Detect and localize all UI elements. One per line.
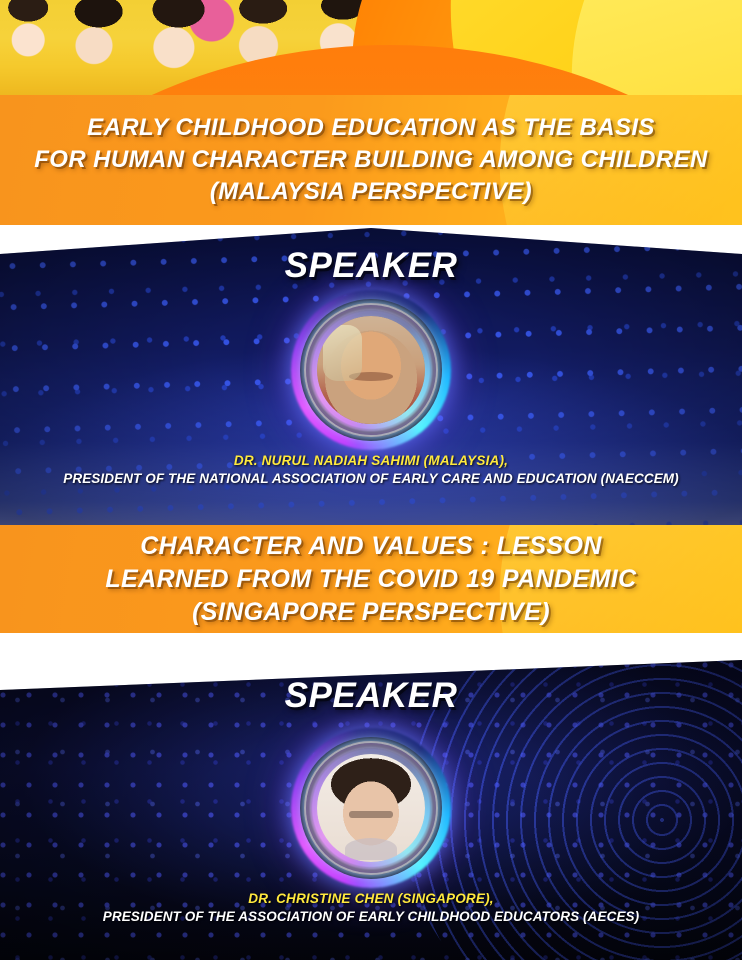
- avatar: [317, 754, 425, 862]
- children-photo-banner: [0, 0, 742, 95]
- session-1-title-line-1: EARLY CHILDHOOD EDUCATION AS THE BASIS: [87, 112, 655, 144]
- session-2-title-banner: CHARACTER AND VALUES : LESSON LEARNED FR…: [0, 525, 742, 633]
- session-2-speaker-caption: DR. CHRISTINE CHEN (SINGAPORE), PRESIDEN…: [0, 890, 742, 926]
- session-1-speaker-name: DR. NURUL NADIAH SAHIMI (MALAYSIA),: [0, 452, 742, 470]
- session-1-title-banner: EARLY CHILDHOOD EDUCATION AS THE BASIS F…: [0, 95, 742, 225]
- speaker-2-face-image: [317, 754, 425, 862]
- session-2-speaker-name: DR. CHRISTINE CHEN (SINGAPORE),: [0, 890, 742, 908]
- session-2-speaker-role: PRESIDENT OF THE ASSOCIATION OF EARLY CH…: [0, 908, 742, 926]
- webinar-poster: EARLY CHILDHOOD EDUCATION AS THE BASIS F…: [0, 0, 742, 960]
- session-1-speaker-role: PRESIDENT OF THE NATIONAL ASSOCIATION OF…: [0, 470, 742, 488]
- session-1-speaker-panel: SPEAKER DR. NURUL NADIAH SAHIMI (MALAYSI…: [0, 228, 742, 525]
- avatar: [317, 316, 425, 424]
- session-2-speaker-portrait: [291, 728, 451, 888]
- session-1-title-line-2: FOR HUMAN CHARACTER BUILDING AMONG CHILD…: [34, 144, 708, 176]
- session-2-title-line-1: CHARACTER AND VALUES : LESSON: [140, 530, 602, 563]
- speaker-1-face-image: [317, 316, 425, 424]
- session-1-speaker-portrait: [291, 290, 451, 450]
- session-1-speaker-caption: DR. NURUL NADIAH SAHIMI (MALAYSIA), PRES…: [0, 452, 742, 488]
- session-2-title-line-2: LEARNED FROM THE COVID 19 PANDEMIC: [105, 563, 636, 596]
- session-2-speaker-heading: SPEAKER: [0, 676, 742, 716]
- session-1-speaker-heading: SPEAKER: [0, 246, 742, 286]
- session-2-title-line-3: (SINGAPORE PERSPECTIVE): [192, 596, 550, 629]
- session-2-speaker-panel: SPEAKER DR. CHRISTINE CHEN (SINGAPORE), …: [0, 660, 742, 960]
- session-1-title-line-3: (MALAYSIA PERSPECTIVE): [210, 176, 532, 208]
